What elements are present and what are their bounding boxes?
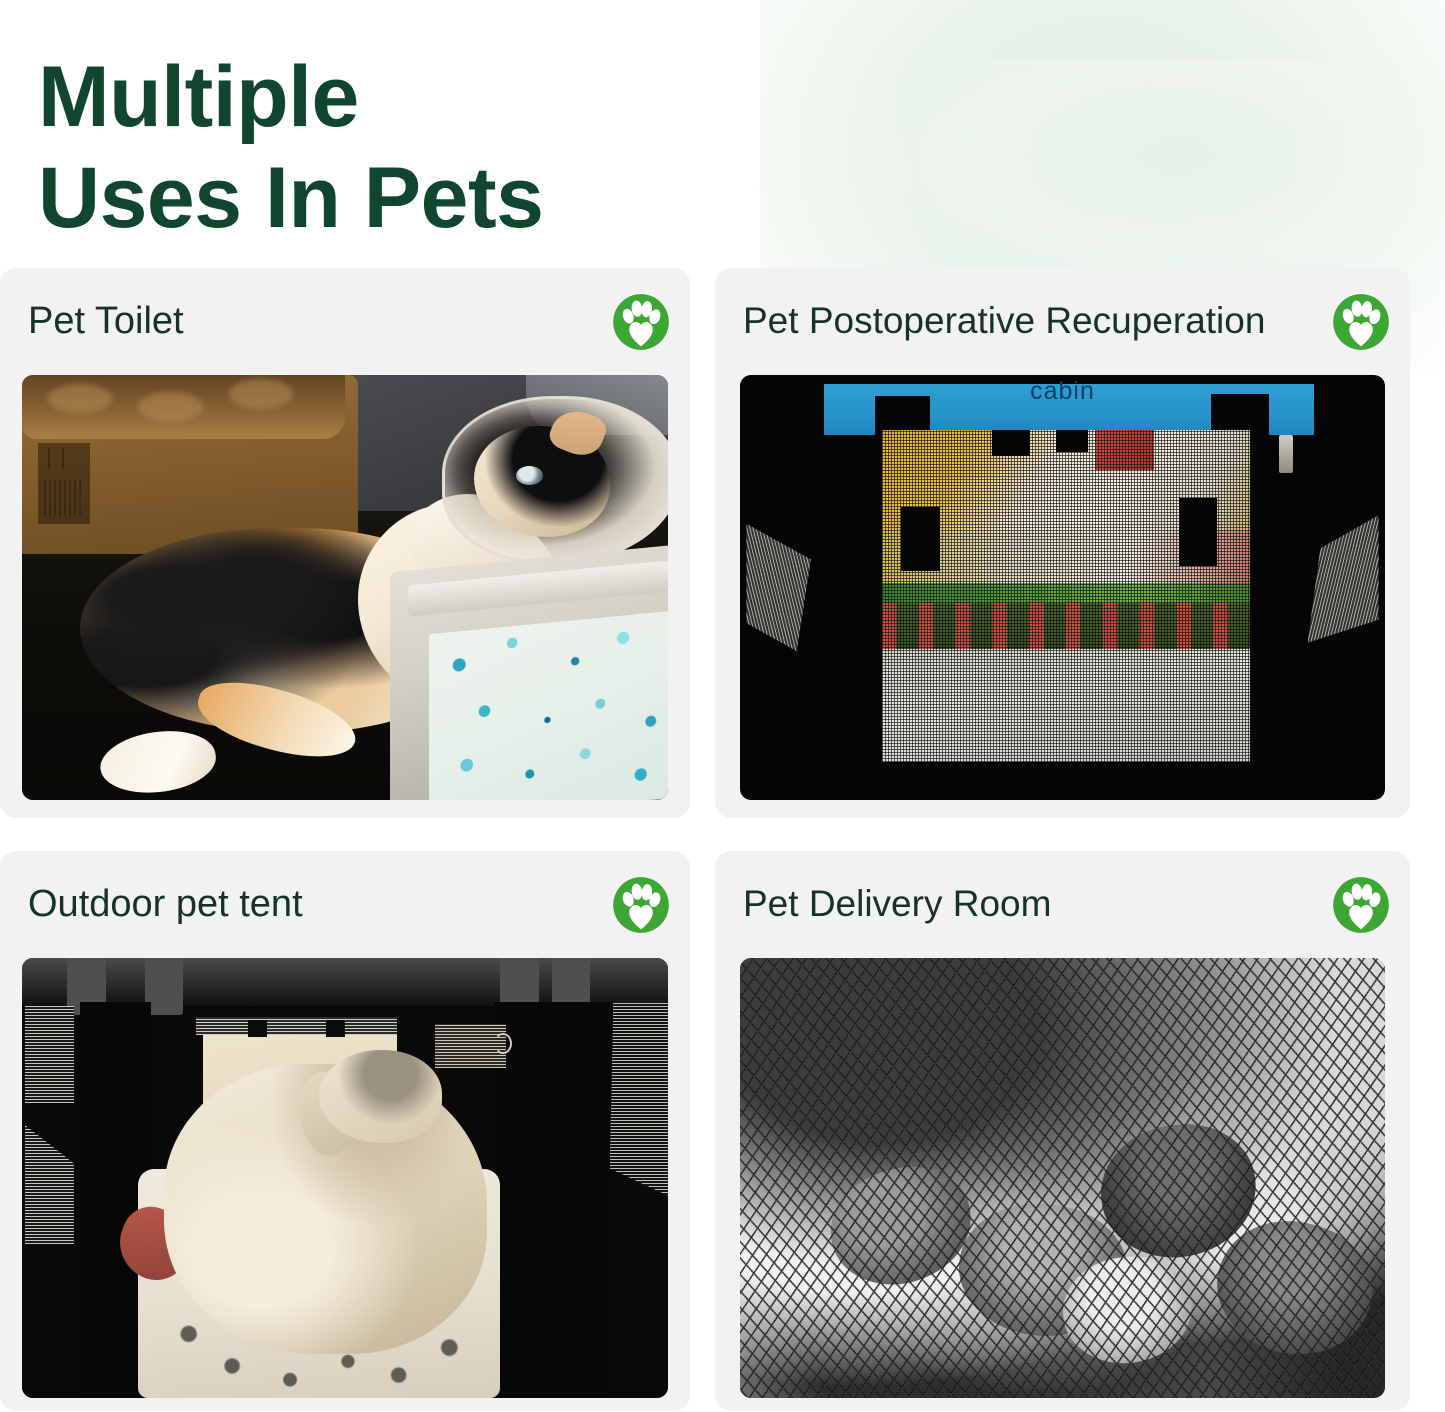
photo-pet-toilet [22, 375, 668, 800]
card-header: Pet Toilet [0, 268, 690, 375]
card-title-pet-toilet: Pet Toilet [28, 302, 184, 342]
card-header: Pet Delivery Room [715, 851, 1410, 958]
use-case-card-grid: Pet Toilet [0, 268, 1445, 1411]
paw-print-icon [612, 293, 670, 351]
photo-outdoor-pet-tent [22, 958, 668, 1398]
page-title-line-1: Multiple [38, 49, 359, 145]
infographic-page: Multiple Uses In Pets Pet Toilet [0, 0, 1445, 1412]
card-row-top: Pet Toilet [0, 268, 1445, 818]
use-case-card-pet-delivery-room[interactable]: Pet Delivery Room [715, 851, 1410, 1411]
use-case-card-outdoor-pet-tent[interactable]: Outdoor pet tent [0, 851, 690, 1411]
photo-pet-delivery-room [740, 958, 1385, 1398]
paw-print-icon [1332, 293, 1390, 351]
paw-print-icon [1332, 876, 1390, 934]
paw-print-icon [612, 876, 670, 934]
card-title-pet-delivery-room: Pet Delivery Room [743, 885, 1051, 924]
card-row-bottom: Outdoor pet tent [0, 851, 1445, 1411]
card-title-pet-postoperative-recuperation: Pet Postoperative Recuperation [743, 302, 1265, 341]
card-header: Pet Postoperative Recuperation [715, 268, 1410, 375]
use-case-card-pet-toilet[interactable]: Pet Toilet [0, 268, 690, 818]
carrier-brand-label: cabin [740, 377, 1385, 406]
page-title-line-2: Uses In Pets [38, 155, 758, 243]
card-title-outdoor-pet-tent: Outdoor pet tent [28, 885, 303, 925]
card-header: Outdoor pet tent [0, 851, 690, 958]
use-case-card-pet-postoperative-recuperation[interactable]: Pet Postoperative Recuperation cabin [715, 268, 1410, 818]
page-title: Multiple Uses In Pets [38, 54, 758, 243]
photo-pet-postoperative-recuperation: cabin [740, 375, 1385, 800]
